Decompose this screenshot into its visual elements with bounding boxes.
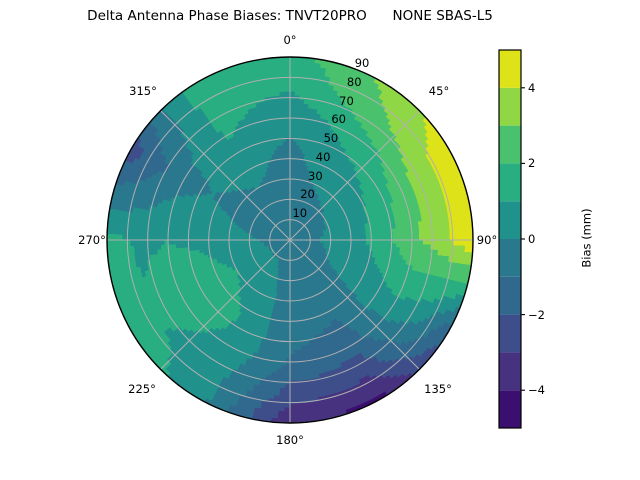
radial-tick-label-30: 30 <box>308 169 323 183</box>
colorbar-band <box>499 88 521 126</box>
colorbar-tick-label: −2 <box>528 308 545 322</box>
colorbar-band <box>499 239 521 277</box>
radial-tick-label-80: 80 <box>347 75 362 89</box>
polar-grid-group <box>107 57 473 423</box>
radial-tick-label-60: 60 <box>331 112 346 126</box>
colorbar-band <box>499 201 521 239</box>
angular-tick-label-135: 135° <box>424 382 452 396</box>
colorbar-band <box>499 390 521 428</box>
colorbar-group <box>499 50 525 428</box>
colorbar-tick-label: 2 <box>528 156 535 170</box>
colorbar-band <box>499 163 521 201</box>
colorbar-tick-label: −4 <box>528 383 545 397</box>
angular-tick-label-90: 90° <box>477 233 497 247</box>
radial-tick-label-10: 10 <box>292 206 307 220</box>
radial-tick-label-40: 40 <box>316 150 331 164</box>
colorbar-tick-label: 0 <box>528 232 535 246</box>
angular-tick-label-45: 45° <box>429 84 449 98</box>
angular-tick-label-225: 225° <box>128 382 156 396</box>
page-title: Delta Antenna Phase Biases: TNVT20PRO NO… <box>0 8 580 24</box>
angular-tick-label-315: 315° <box>129 84 157 98</box>
colorbar-tick-label: 4 <box>528 81 535 95</box>
polar-contour-figure: Delta Antenna Phase Biases: TNVT20PRO NO… <box>0 0 640 480</box>
colorbar-band <box>499 126 521 164</box>
radial-tick-label-70: 70 <box>339 94 354 108</box>
angular-tick-label-270: 270° <box>78 233 106 247</box>
radial-tick-label-50: 50 <box>324 131 339 145</box>
colorbar-band <box>499 352 521 390</box>
colorbar-band <box>499 315 521 353</box>
radial-tick-label-20: 20 <box>300 187 315 201</box>
angular-tick-label-180: 180° <box>276 433 304 447</box>
colorbar-band <box>499 50 521 88</box>
angular-tick-label-0: 0° <box>283 33 296 47</box>
colorbar-axis-label: Bias (mm) <box>580 208 594 267</box>
colorbar-band <box>499 277 521 315</box>
radial-tick-label-90: 90 <box>355 56 370 70</box>
